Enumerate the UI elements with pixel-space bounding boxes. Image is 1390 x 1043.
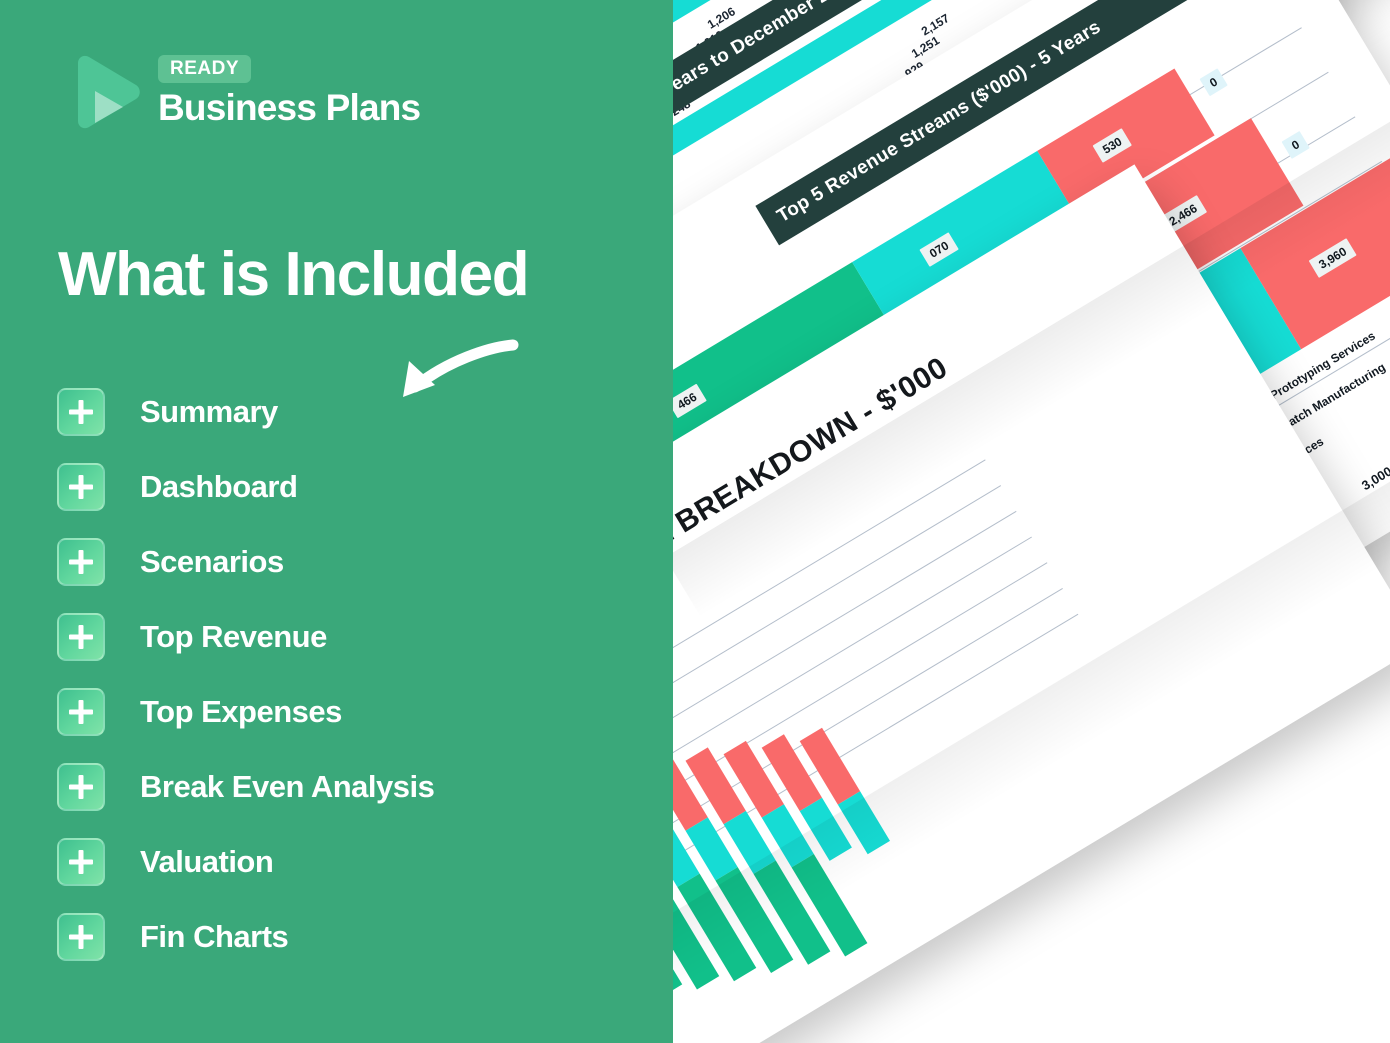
feature-label-summary: Summary bbox=[140, 394, 278, 430]
plus-icon bbox=[57, 763, 105, 811]
brand-name: Business Plans bbox=[158, 89, 420, 128]
feature-label-break-even-analysis: Break Even Analysis bbox=[140, 769, 434, 805]
feature-item-dashboard[interactable]: Dashboard bbox=[57, 461, 617, 513]
feature-item-scenarios[interactable]: Scenarios bbox=[57, 536, 617, 588]
left-promo-panel: READY Business Plans What is Included Su… bbox=[0, 0, 673, 1043]
feature-label-top-expenses: Top Expenses bbox=[140, 694, 342, 730]
promo-graphic: Table of Contents 128.9 2028 bbox=[0, 0, 1390, 1043]
plus-icon bbox=[57, 688, 105, 736]
feature-label-top-revenue: Top Revenue bbox=[140, 619, 327, 655]
feature-label-fin-charts: Fin Charts bbox=[140, 919, 288, 955]
plus-icon bbox=[57, 913, 105, 961]
feature-item-summary[interactable]: Summary bbox=[57, 386, 617, 438]
feature-item-valuation[interactable]: Valuation bbox=[57, 836, 617, 888]
feature-item-top-revenue[interactable]: Top Revenue bbox=[57, 611, 617, 663]
ready-badge: READY bbox=[158, 55, 251, 83]
plus-icon bbox=[57, 613, 105, 661]
feature-label-valuation: Valuation bbox=[140, 844, 273, 880]
feature-item-top-expenses[interactable]: Top Expenses bbox=[57, 686, 617, 738]
feature-label-scenarios: Scenarios bbox=[140, 544, 284, 580]
feature-list: Summary Dashboard Scenarios Top Revenue … bbox=[57, 386, 617, 986]
spreadsheet-collage: Table of Contents 128.9 2028 bbox=[673, 0, 1390, 1043]
plus-icon bbox=[57, 388, 105, 436]
feature-item-break-even-analysis[interactable]: Break Even Analysis bbox=[57, 761, 617, 813]
plus-icon bbox=[57, 538, 105, 586]
feature-item-fin-charts[interactable]: Fin Charts bbox=[57, 911, 617, 963]
page-title: What is Included bbox=[58, 244, 528, 306]
brand-logo: READY Business Plans bbox=[68, 55, 420, 131]
plus-icon bbox=[57, 463, 105, 511]
bar-label-0b: 0 bbox=[1281, 131, 1309, 159]
play-triangle-icon bbox=[68, 55, 142, 131]
feature-label-dashboard: Dashboard bbox=[140, 469, 297, 505]
plus-icon bbox=[57, 838, 105, 886]
